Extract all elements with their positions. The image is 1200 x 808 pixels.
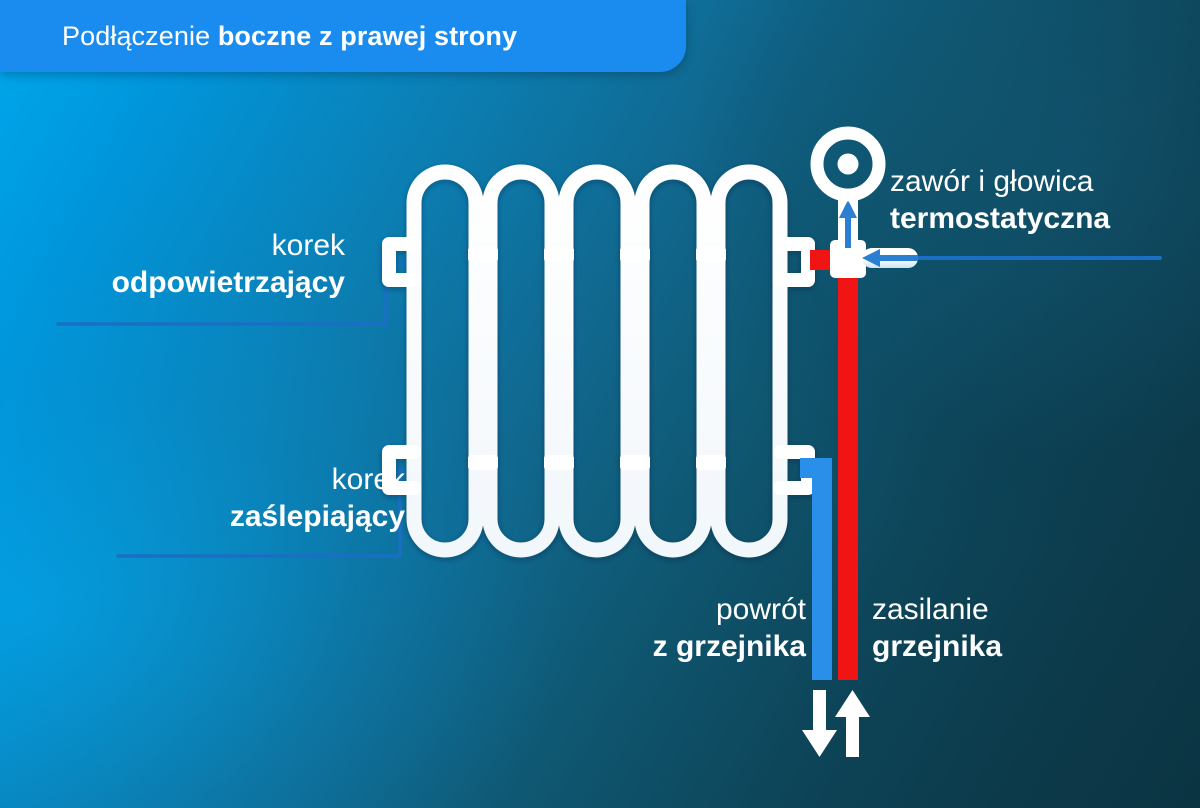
- banner-title-bold: boczne z prawej strony: [218, 21, 517, 51]
- radiator-fin: [566, 172, 628, 550]
- label-supply-pipe: zasilanie grzejnika: [872, 592, 1002, 665]
- radiator-fins: [414, 172, 780, 550]
- fin-connector: [544, 247, 574, 262]
- radiator-ports: [389, 244, 808, 488]
- radiator-fin: [718, 172, 780, 550]
- flow-direction-arrows: [802, 690, 870, 757]
- return-pipe-branch: [800, 458, 826, 478]
- fin-connector: [696, 455, 726, 470]
- radiator-fin: [490, 172, 552, 550]
- label-supply-pipe-line1: zasilanie: [872, 592, 1002, 629]
- radiator-schematic: [0, 0, 1200, 808]
- diagram-canvas: Podłączenie boczne z prawej strony: [0, 0, 1200, 808]
- banner-title-normal: Podłączenie: [62, 21, 218, 51]
- radiator: [389, 172, 808, 550]
- supply-pipe-riser: [838, 248, 858, 680]
- label-blank-plug-line1: korek: [230, 462, 405, 499]
- title-banner: Podłączenie boczne z prawej strony: [0, 0, 686, 72]
- radiator-fin: [642, 172, 704, 550]
- fin-connector: [468, 455, 498, 470]
- banner-title: Podłączenie boczne z prawej strony: [62, 21, 517, 52]
- label-thermostatic-valve-line2: termostatyczna: [890, 201, 1110, 238]
- return-pipe-riser: [812, 458, 832, 680]
- label-return-pipe: powrót z grzejnika: [653, 592, 806, 665]
- flow-arrow-up-icon: [835, 690, 870, 757]
- label-blank-plug: korek zaślepiający: [230, 462, 405, 535]
- label-thermostatic-valve-line1: zawór i głowica: [890, 164, 1110, 201]
- fin-connector: [468, 247, 498, 262]
- fin-connector: [544, 455, 574, 470]
- label-return-pipe-line1: powrót: [653, 592, 806, 629]
- radiator-connectors: [468, 247, 726, 470]
- label-return-pipe-line2: z grzejnika: [653, 629, 806, 666]
- flow-arrow-down-icon: [802, 690, 837, 757]
- radiator-fin: [414, 172, 476, 550]
- fin-connector: [620, 455, 650, 470]
- fin-connector: [620, 247, 650, 262]
- thermostat-head-center-dot: [838, 154, 859, 175]
- label-blank-plug-line2: zaślepiający: [230, 499, 405, 536]
- label-bleed-valve: korek odpowietrzający: [112, 228, 345, 301]
- label-bleed-valve-line2: odpowietrzający: [112, 265, 345, 302]
- valve-pointer-leader: [862, 248, 1160, 268]
- fin-connector: [696, 247, 726, 262]
- label-bleed-valve-line1: korek: [112, 228, 345, 265]
- label-supply-pipe-line2: grzejnika: [872, 629, 1002, 666]
- label-thermostatic-valve: zawór i głowica termostatyczna: [890, 164, 1110, 237]
